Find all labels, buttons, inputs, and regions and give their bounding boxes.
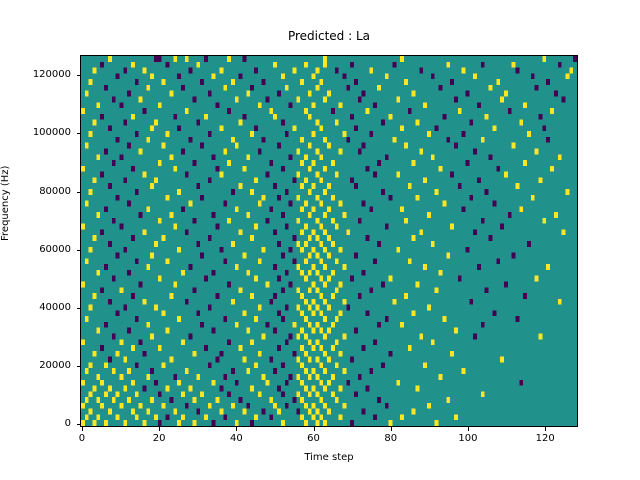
x-tick-mark — [159, 427, 160, 431]
x-tick-mark — [545, 427, 546, 431]
x-tick-mark — [468, 427, 469, 431]
x-axis-label: Time step — [80, 452, 578, 463]
heatmap-axes — [80, 55, 578, 427]
x-tick-label: 40 — [230, 433, 243, 444]
y-tick-mark — [77, 192, 81, 193]
y-tick-label: 60000 — [39, 244, 71, 255]
y-tick-mark — [77, 75, 81, 76]
x-tick-mark — [236, 427, 237, 431]
x-tick-label: 60 — [307, 433, 320, 444]
y-tick-label: 40000 — [39, 302, 71, 313]
y-tick-mark — [77, 250, 81, 251]
y-tick-mark — [77, 366, 81, 367]
x-tick-mark — [82, 427, 83, 431]
y-tick-label: 120000 — [33, 69, 71, 80]
y-axis-label: Frequency (Hz) — [0, 166, 11, 241]
x-tick-mark — [314, 427, 315, 431]
x-tick-label: 0 — [79, 433, 85, 444]
y-tick-label: 0 — [65, 418, 71, 429]
y-tick-mark — [77, 308, 81, 309]
y-tick-mark — [77, 424, 81, 425]
x-tick-mark — [391, 427, 392, 431]
x-tick-label: 20 — [153, 433, 166, 444]
matplotlib-figure: Predicted : La 0200004000060000800001000… — [0, 0, 640, 480]
y-tick-label: 20000 — [39, 360, 71, 371]
x-tick-label: 120 — [536, 433, 555, 444]
x-tick-label: 100 — [458, 433, 477, 444]
y-tick-label: 100000 — [33, 127, 71, 138]
x-tick-label: 80 — [384, 433, 397, 444]
y-tick-label: 80000 — [39, 186, 71, 197]
y-tick-mark — [77, 133, 81, 134]
heatmap-image — [81, 56, 577, 426]
page-title: Predicted : La — [80, 29, 578, 43]
